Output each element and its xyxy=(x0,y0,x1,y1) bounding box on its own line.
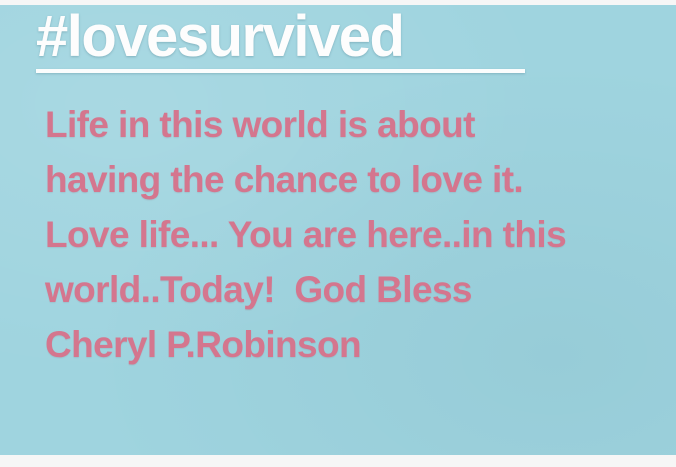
quote-card: #lovesurvived Life in this world is abou… xyxy=(0,0,676,467)
author-signature: Cheryl P.Robinson xyxy=(45,317,655,372)
quote-line: world..Today! God Bless xyxy=(45,262,655,317)
title-underline xyxy=(36,69,525,73)
page-title: #lovesurvived xyxy=(36,6,403,68)
quote-line: having the chance to love it. xyxy=(45,152,655,207)
quote-line: Life in this world is about xyxy=(45,97,655,152)
quote-line: Love life... You are here..in this xyxy=(45,207,655,262)
quote-text-block: Life in this world is about having the c… xyxy=(45,97,655,372)
bottom-border-strip xyxy=(0,455,676,467)
top-border-strip xyxy=(0,0,676,5)
